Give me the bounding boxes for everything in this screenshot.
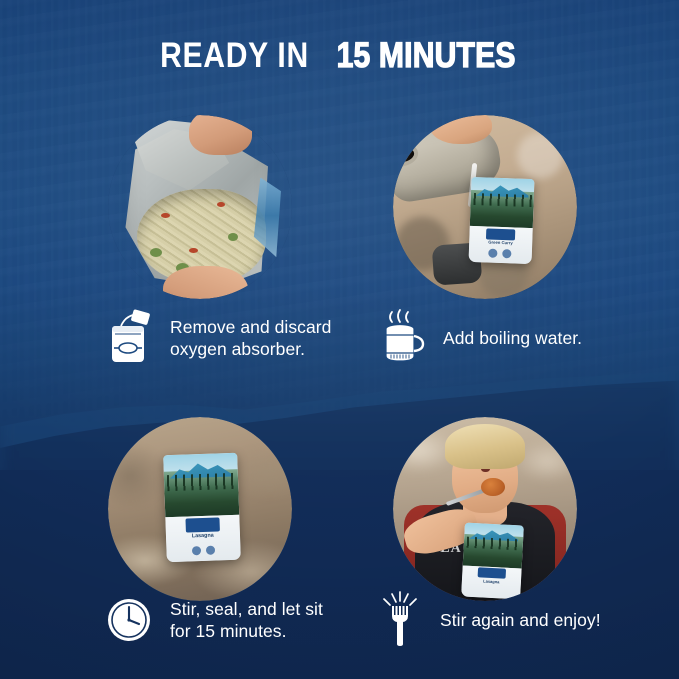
caption-line-2: for 15 minutes. [170, 621, 287, 641]
caption-line-2: oxygen absorber. [170, 339, 305, 359]
caption-line-1: Remove and discard [170, 317, 331, 337]
step-1-photo [108, 115, 292, 299]
hand-bottom [163, 266, 248, 299]
page-title-light-part: READY IN [161, 38, 310, 73]
steaming-mug-icon [378, 310, 430, 366]
step-3-photo: Lasagna [108, 417, 292, 601]
page-title-bold-part: 15 MINUTES [337, 38, 516, 73]
brand-logo [486, 228, 515, 240]
step-2-caption-text: Add boiling water. [443, 327, 582, 349]
lasagna-pouch: Lasagna [163, 453, 240, 562]
step-2-caption: Add boiling water. [378, 310, 628, 366]
blond-hair [445, 424, 526, 468]
hand-top [189, 115, 252, 155]
step-4-photo: FLA Lasagna [393, 417, 577, 601]
meal-pouch-held: Lasagna [461, 522, 524, 599]
pouch-artwork [470, 176, 534, 227]
caption-line-1: Stir, seal, and let sit [170, 599, 323, 619]
forest-graphic [164, 472, 238, 491]
kettle-mouth [393, 145, 415, 165]
step-3-caption-text: Stir, seal, and let sit for 15 minutes. [170, 598, 323, 642]
page-title: READY IN15 MINUTES [0, 38, 679, 73]
fork-sparkle-icon [375, 592, 427, 648]
ready-in-15-minutes-infographic: READY IN15 MINUTES [0, 0, 679, 679]
pouch-artwork [463, 522, 524, 568]
pouch-artwork [163, 453, 239, 517]
step-2-photo: Green Curry [393, 115, 577, 299]
step-4-caption-text: Stir again and enjoy! [440, 609, 601, 631]
brand-logo [185, 517, 219, 532]
green-curry-pouch: Green Curry [469, 176, 534, 263]
forest-graphic [464, 536, 523, 550]
nutrition-badges [192, 546, 215, 556]
nutrition-badges [489, 249, 512, 259]
step-3-caption: Stir, seal, and let sit for 15 minutes. [105, 592, 360, 648]
step-4-caption: Stir again and enjoy! [375, 592, 630, 648]
clock-icon [105, 592, 157, 648]
forest-graphic [471, 192, 534, 207]
step-1-caption-text: Remove and discard oxygen absorber. [170, 316, 331, 360]
step-1-caption: Remove and discard oxygen absorber. [105, 310, 355, 366]
brand-logo [478, 567, 506, 578]
pouch-with-oxygen-absorber-icon [105, 310, 157, 366]
